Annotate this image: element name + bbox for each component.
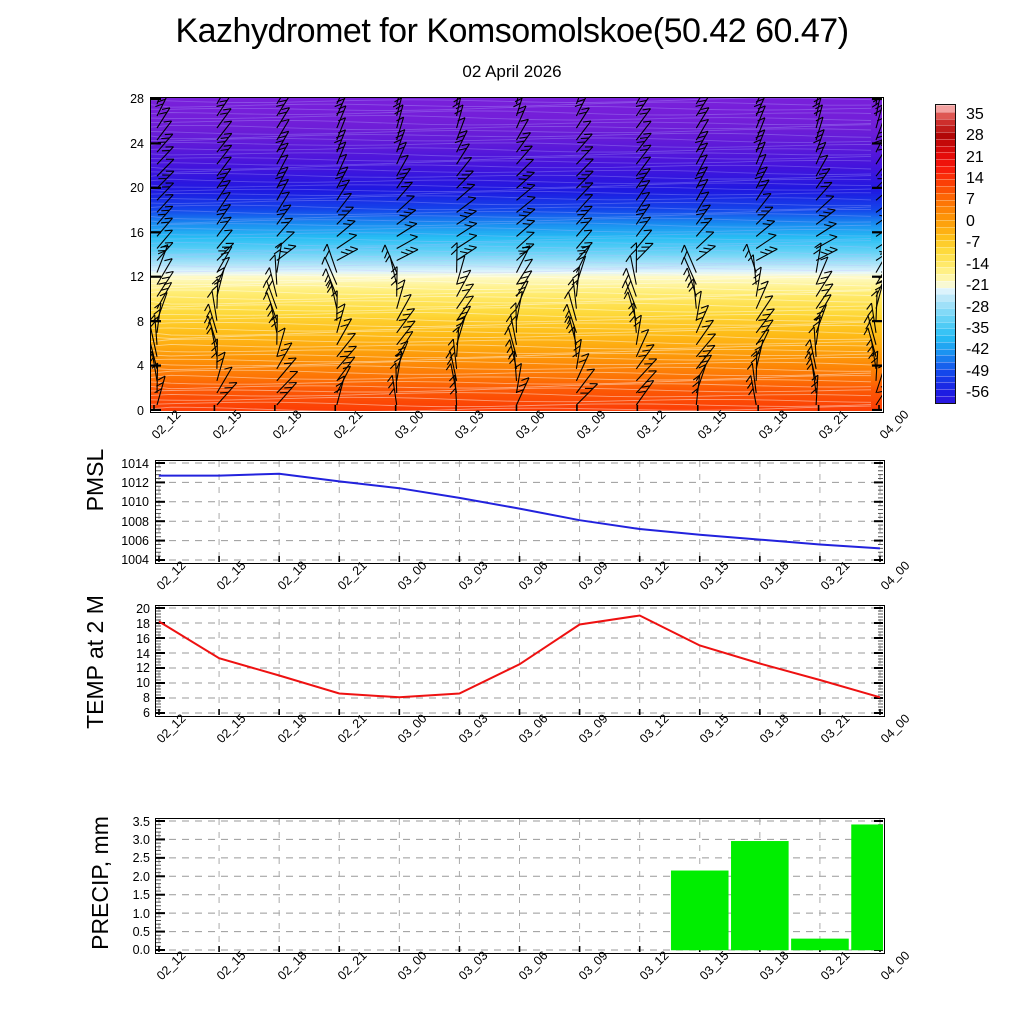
temp-plot <box>156 606 883 715</box>
cross-section-x-axis: 02_1202_1502_1802_2103_0003_0303_0603_09… <box>150 418 884 464</box>
colorbar-segment <box>936 288 955 295</box>
pmsl-y-tick-label: 1010 <box>105 495 149 509</box>
cross-section-y-tick-label: 0 <box>100 404 144 418</box>
colorbar-tick-label: -28 <box>966 299 989 317</box>
pmsl-y-tick-label: 1004 <box>105 553 149 567</box>
colorbar-segment <box>936 227 955 234</box>
colorbar-segment <box>936 281 955 288</box>
temp-panel <box>155 605 885 717</box>
colorbar-segment <box>936 206 955 213</box>
precip-y-tick-label: 1.5 <box>108 888 150 902</box>
colorbar-tick-label: 28 <box>966 127 984 145</box>
colorbar-segment <box>936 308 955 315</box>
colorbar-segment <box>936 240 955 247</box>
colorbar-tick-label: 21 <box>966 149 984 167</box>
page-subtitle: 02 April 2026 <box>0 62 1024 82</box>
precip-y-tick-label: 3.0 <box>108 833 150 847</box>
precip-y-tick-label: 3.5 <box>108 815 150 829</box>
colorbar-segment <box>936 369 955 376</box>
colorbar-tick-label: -21 <box>966 277 989 295</box>
temp-axis-title: TEMP at 2 M <box>80 577 110 747</box>
precip-bar <box>731 841 788 950</box>
colorbar-segment <box>936 322 955 329</box>
colorbar-segment <box>936 200 955 207</box>
colorbar-segment <box>936 355 955 362</box>
colorbar-segment <box>936 125 955 132</box>
colorbar-segment <box>936 267 955 274</box>
page-title: Kazhydromet for Komsomolskoe(50.42 60.47… <box>0 12 1024 51</box>
colorbar-segment <box>936 342 955 349</box>
temp-y-tick-label: 20 <box>112 602 150 616</box>
colorbar-segment <box>936 247 955 254</box>
temp-y-tick-label: 16 <box>112 632 150 646</box>
colorbar-segment <box>936 315 955 322</box>
colorbar-tick-label: -14 <box>966 256 989 274</box>
colorbar-segment <box>936 112 955 119</box>
colorbar-segment <box>936 362 955 369</box>
colorbar-segment <box>936 301 955 308</box>
colorbar-segment <box>936 152 955 159</box>
colorbar-segment <box>936 294 955 301</box>
colorbar-segment <box>936 396 955 403</box>
colorbar-segment <box>936 105 955 112</box>
colorbar-segment <box>936 139 955 146</box>
pmsl-plot <box>156 461 883 562</box>
cross-section-y-tick-label: 8 <box>100 315 144 329</box>
colorbar-tick-label: 0 <box>966 213 975 231</box>
colorbar-segment <box>936 159 955 166</box>
colorbar-segment <box>936 213 955 220</box>
colorbar-segment <box>936 220 955 227</box>
colorbar-tick-label: 14 <box>966 170 984 188</box>
pmsl-series <box>159 474 880 549</box>
colorbar-tick-label: -42 <box>966 341 989 359</box>
temp-y-tick-label: 10 <box>112 676 150 690</box>
cross-section-plot <box>151 98 882 411</box>
colorbar-segment <box>936 403 955 404</box>
precip-bar <box>671 871 728 950</box>
colorbar-segment <box>936 349 955 356</box>
pmsl-y-axis: 100410061008101010121014 <box>105 460 149 564</box>
cross-section-y-tick-label: 12 <box>100 270 144 284</box>
colorbar-segment <box>936 193 955 200</box>
colorbar-segment <box>936 328 955 335</box>
temp-y-tick-label: 6 <box>112 706 150 720</box>
colorbar-tick-label: -7 <box>966 234 980 252</box>
precip-bar <box>852 825 884 950</box>
colorbar-segment <box>936 335 955 342</box>
colorbar-segment <box>936 389 955 396</box>
colorbar-segment <box>936 382 955 389</box>
temperature-colorbar <box>935 104 956 404</box>
precip-bar <box>791 939 848 950</box>
colorbar-segment <box>936 173 955 180</box>
cross-section-y-tick-label: 28 <box>100 92 144 106</box>
precip-y-tick-label: 0.0 <box>108 943 150 957</box>
temp-x-axis: 02_1202_1502_1802_2103_0003_0303_0603_09… <box>155 722 885 768</box>
precip-y-tick-label: 2.5 <box>108 851 150 865</box>
colorbar-tick-labels: 3528211470-7-14-21-28-35-42-49-56 <box>966 104 1024 404</box>
precip-panel <box>155 818 885 954</box>
colorbar-segment <box>936 234 955 241</box>
colorbar-segment <box>936 261 955 268</box>
pmsl-y-tick-label: 1014 <box>105 457 149 471</box>
colorbar-segment <box>936 376 955 383</box>
precip-y-axis: 0.00.51.01.52.02.53.03.5 <box>108 818 150 954</box>
cross-section-y-tick-label: 16 <box>100 226 144 240</box>
temp-y-tick-label: 14 <box>112 647 150 661</box>
temp-y-tick-label: 18 <box>112 617 150 631</box>
cross-section-y-tick-label: 24 <box>100 137 144 151</box>
colorbar-tick-label: 35 <box>966 106 984 124</box>
pmsl-panel <box>155 460 885 564</box>
colorbar-segment <box>936 119 955 126</box>
colorbar-segment <box>936 146 955 153</box>
pmsl-y-tick-label: 1006 <box>105 534 149 548</box>
cross-section-y-tick-label: 20 <box>100 181 144 195</box>
colorbar-tick-label: -35 <box>966 320 989 338</box>
precip-y-tick-label: 1.0 <box>108 907 150 921</box>
precip-x-axis: 02_1202_1502_1802_2103_0003_0303_0603_09… <box>155 959 885 1005</box>
temp-y-tick-label: 8 <box>112 691 150 705</box>
colorbar-segment <box>936 166 955 173</box>
cross-section-y-axis: 0481216202428 <box>100 97 144 413</box>
pmsl-y-tick-label: 1008 <box>105 515 149 529</box>
precip-plot <box>156 819 883 952</box>
precip-y-tick-label: 0.5 <box>108 925 150 939</box>
temp-y-axis: 68101214161820 <box>112 605 150 717</box>
colorbar-segment <box>936 186 955 193</box>
colorbar-tick-label: -49 <box>966 363 989 381</box>
colorbar-segment <box>936 274 955 281</box>
upper-air-cross-section-panel <box>150 97 884 413</box>
colorbar-segment <box>936 179 955 186</box>
pmsl-y-tick-label: 1012 <box>105 476 149 490</box>
colorbar-tick-label: -56 <box>966 384 989 402</box>
temp-y-tick-label: 12 <box>112 661 150 675</box>
precip-y-tick-label: 2.0 <box>108 870 150 884</box>
colorbar-tick-label: 7 <box>966 191 975 209</box>
colorbar-segment <box>936 254 955 261</box>
cross-section-y-tick-label: 4 <box>100 359 144 373</box>
colorbar-segment <box>936 132 955 139</box>
